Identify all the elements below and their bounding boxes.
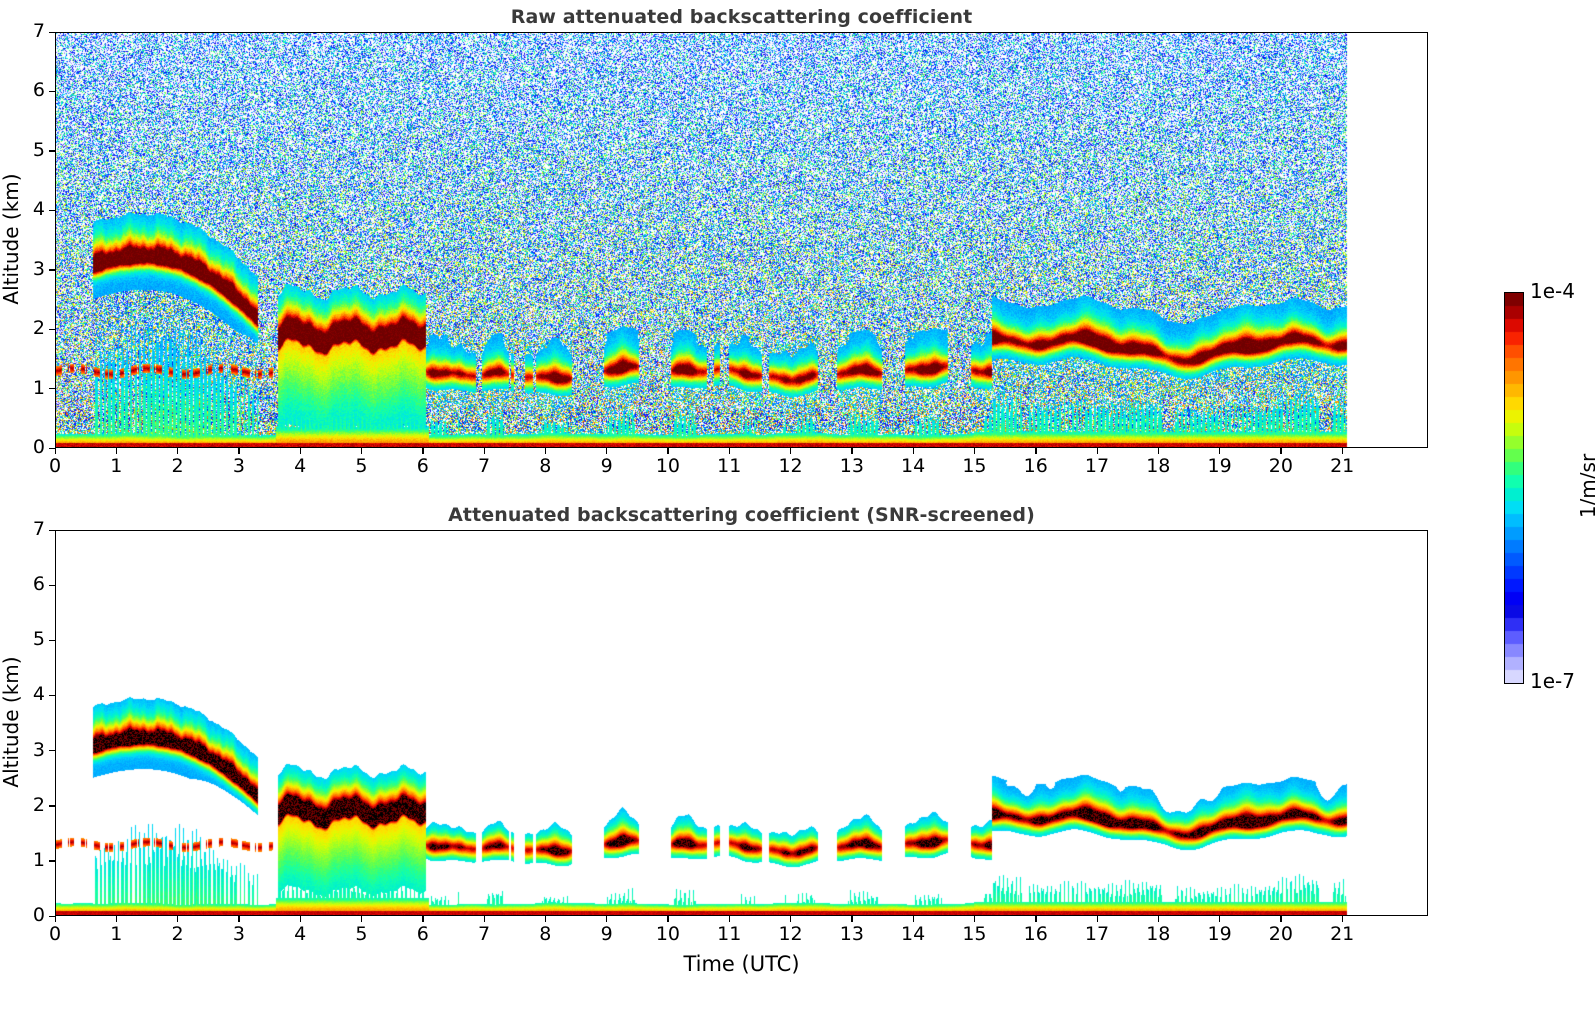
x-tick-mark [1035, 448, 1036, 454]
y-tick-label: 1 [19, 377, 45, 399]
y-tick-label: 7 [19, 518, 45, 540]
y-tick-mark [49, 329, 55, 330]
x-tick-mark [1342, 448, 1343, 454]
x-tick-mark [422, 916, 423, 922]
y-tick-label: 6 [19, 79, 45, 101]
colorbar-unit-label: 1/m/sr [1576, 454, 1595, 518]
y-tick-mark [49, 210, 55, 211]
x-tick-mark [851, 448, 852, 454]
x-tick-mark [116, 448, 117, 454]
y-tick-mark [49, 750, 55, 751]
x-tick-mark [422, 448, 423, 454]
x-tick-label: 8 [523, 455, 567, 477]
x-tick-label: 8 [523, 923, 567, 945]
x-tick-mark [1342, 916, 1343, 922]
y-tick-mark [49, 805, 55, 806]
x-tick-mark [913, 916, 914, 922]
x-tick-mark [484, 916, 485, 922]
y-tick-label: 5 [19, 139, 45, 161]
x-tick-label: 12 [769, 923, 813, 945]
y-tick-mark [49, 530, 55, 531]
x-tick-mark [361, 916, 362, 922]
x-tick-label: 0 [33, 455, 77, 477]
y-tick-mark [49, 640, 55, 641]
x-tick-mark [1280, 916, 1281, 922]
y-tick-label: 5 [19, 628, 45, 650]
y-tick-mark [49, 388, 55, 389]
x-tick-label: 18 [1136, 455, 1180, 477]
y-tick-label: 4 [19, 683, 45, 705]
x-tick-mark [1219, 448, 1220, 454]
panel-screened-title: Attenuated backscattering coefficient (S… [55, 504, 1428, 526]
x-tick-label: 6 [401, 455, 445, 477]
x-tick-mark [667, 916, 668, 922]
x-tick-mark [1280, 448, 1281, 454]
y-tick-label: 3 [19, 739, 45, 761]
x-tick-label: 4 [278, 455, 322, 477]
x-tick-mark [116, 916, 117, 922]
x-tick-label: 6 [401, 923, 445, 945]
y-tick-mark [49, 585, 55, 586]
x-tick-label: 10 [646, 923, 690, 945]
x-tick-mark [177, 448, 178, 454]
x-tick-mark [1097, 916, 1098, 922]
y-tick-mark [49, 695, 55, 696]
x-tick-label: 1 [94, 923, 138, 945]
x-tick-label: 14 [891, 923, 935, 945]
y-tick-label: 1 [19, 849, 45, 871]
y-tick-label: 7 [19, 20, 45, 42]
x-tick-mark [790, 916, 791, 922]
x-tick-mark [177, 916, 178, 922]
panel-screened-heatmap [56, 531, 1427, 915]
x-tick-label: 16 [1014, 455, 1058, 477]
y-tick-label: 2 [19, 317, 45, 339]
panel-raw-heatmap [56, 33, 1427, 447]
x-tick-label: 21 [1320, 455, 1364, 477]
x-tick-mark [361, 448, 362, 454]
x-tick-label: 0 [33, 923, 77, 945]
y-tick-mark [49, 150, 55, 151]
x-tick-mark [1158, 916, 1159, 922]
colorbar-max-label: 1e-4 [1530, 279, 1575, 303]
x-tick-label: 20 [1259, 455, 1303, 477]
x-tick-label: 9 [585, 923, 629, 945]
x-tick-label: 2 [156, 455, 200, 477]
x-tick-mark [300, 448, 301, 454]
panel-screened-x-axis-label: Time (UTC) [55, 952, 1428, 976]
colorbar-min-label: 1e-7 [1530, 669, 1575, 693]
x-tick-mark [300, 916, 301, 922]
x-tick-label: 13 [830, 455, 874, 477]
x-tick-mark [913, 448, 914, 454]
x-tick-label: 15 [952, 455, 996, 477]
x-tick-mark [238, 448, 239, 454]
x-tick-label: 3 [217, 455, 261, 477]
y-tick-mark [49, 269, 55, 270]
y-tick-label: 4 [19, 198, 45, 220]
x-tick-mark [606, 448, 607, 454]
x-tick-mark [606, 916, 607, 922]
x-tick-label: 18 [1136, 923, 1180, 945]
x-tick-label: 17 [1075, 455, 1119, 477]
x-tick-mark [484, 448, 485, 454]
panel-raw-title: Raw attenuated backscattering coefficien… [55, 6, 1428, 28]
x-tick-label: 14 [891, 455, 935, 477]
x-tick-label: 7 [462, 923, 506, 945]
x-tick-mark [545, 448, 546, 454]
y-tick-label: 6 [19, 573, 45, 595]
x-tick-label: 10 [646, 455, 690, 477]
x-tick-label: 2 [156, 923, 200, 945]
x-tick-label: 3 [217, 923, 261, 945]
x-tick-mark [729, 916, 730, 922]
x-tick-mark [974, 448, 975, 454]
x-tick-label: 5 [339, 455, 383, 477]
x-tick-mark [851, 916, 852, 922]
x-tick-mark [729, 448, 730, 454]
x-tick-label: 9 [585, 455, 629, 477]
y-tick-label: 2 [19, 794, 45, 816]
x-tick-mark [545, 916, 546, 922]
y-tick-mark [49, 91, 55, 92]
colorbar-gradient [1504, 292, 1524, 684]
x-tick-label: 21 [1320, 923, 1364, 945]
x-tick-mark [55, 916, 56, 922]
x-tick-mark [1219, 916, 1220, 922]
x-tick-label: 11 [707, 455, 751, 477]
x-tick-label: 13 [830, 923, 874, 945]
x-tick-label: 16 [1014, 923, 1058, 945]
y-tick-mark [49, 32, 55, 33]
x-tick-mark [238, 916, 239, 922]
x-tick-mark [55, 448, 56, 454]
x-tick-label: 5 [339, 923, 383, 945]
x-tick-label: 17 [1075, 923, 1119, 945]
y-tick-label: 3 [19, 258, 45, 280]
x-tick-label: 15 [952, 923, 996, 945]
y-tick-mark [49, 860, 55, 861]
x-tick-label: 11 [707, 923, 751, 945]
x-tick-label: 12 [769, 455, 813, 477]
x-tick-label: 19 [1198, 923, 1242, 945]
x-tick-mark [974, 916, 975, 922]
x-tick-mark [1158, 448, 1159, 454]
x-tick-mark [1097, 448, 1098, 454]
x-tick-mark [790, 448, 791, 454]
x-tick-label: 4 [278, 923, 322, 945]
x-tick-label: 19 [1198, 455, 1242, 477]
x-tick-mark [667, 448, 668, 454]
x-tick-label: 1 [94, 455, 138, 477]
x-tick-mark [1035, 916, 1036, 922]
x-tick-label: 7 [462, 455, 506, 477]
x-tick-label: 20 [1259, 923, 1303, 945]
